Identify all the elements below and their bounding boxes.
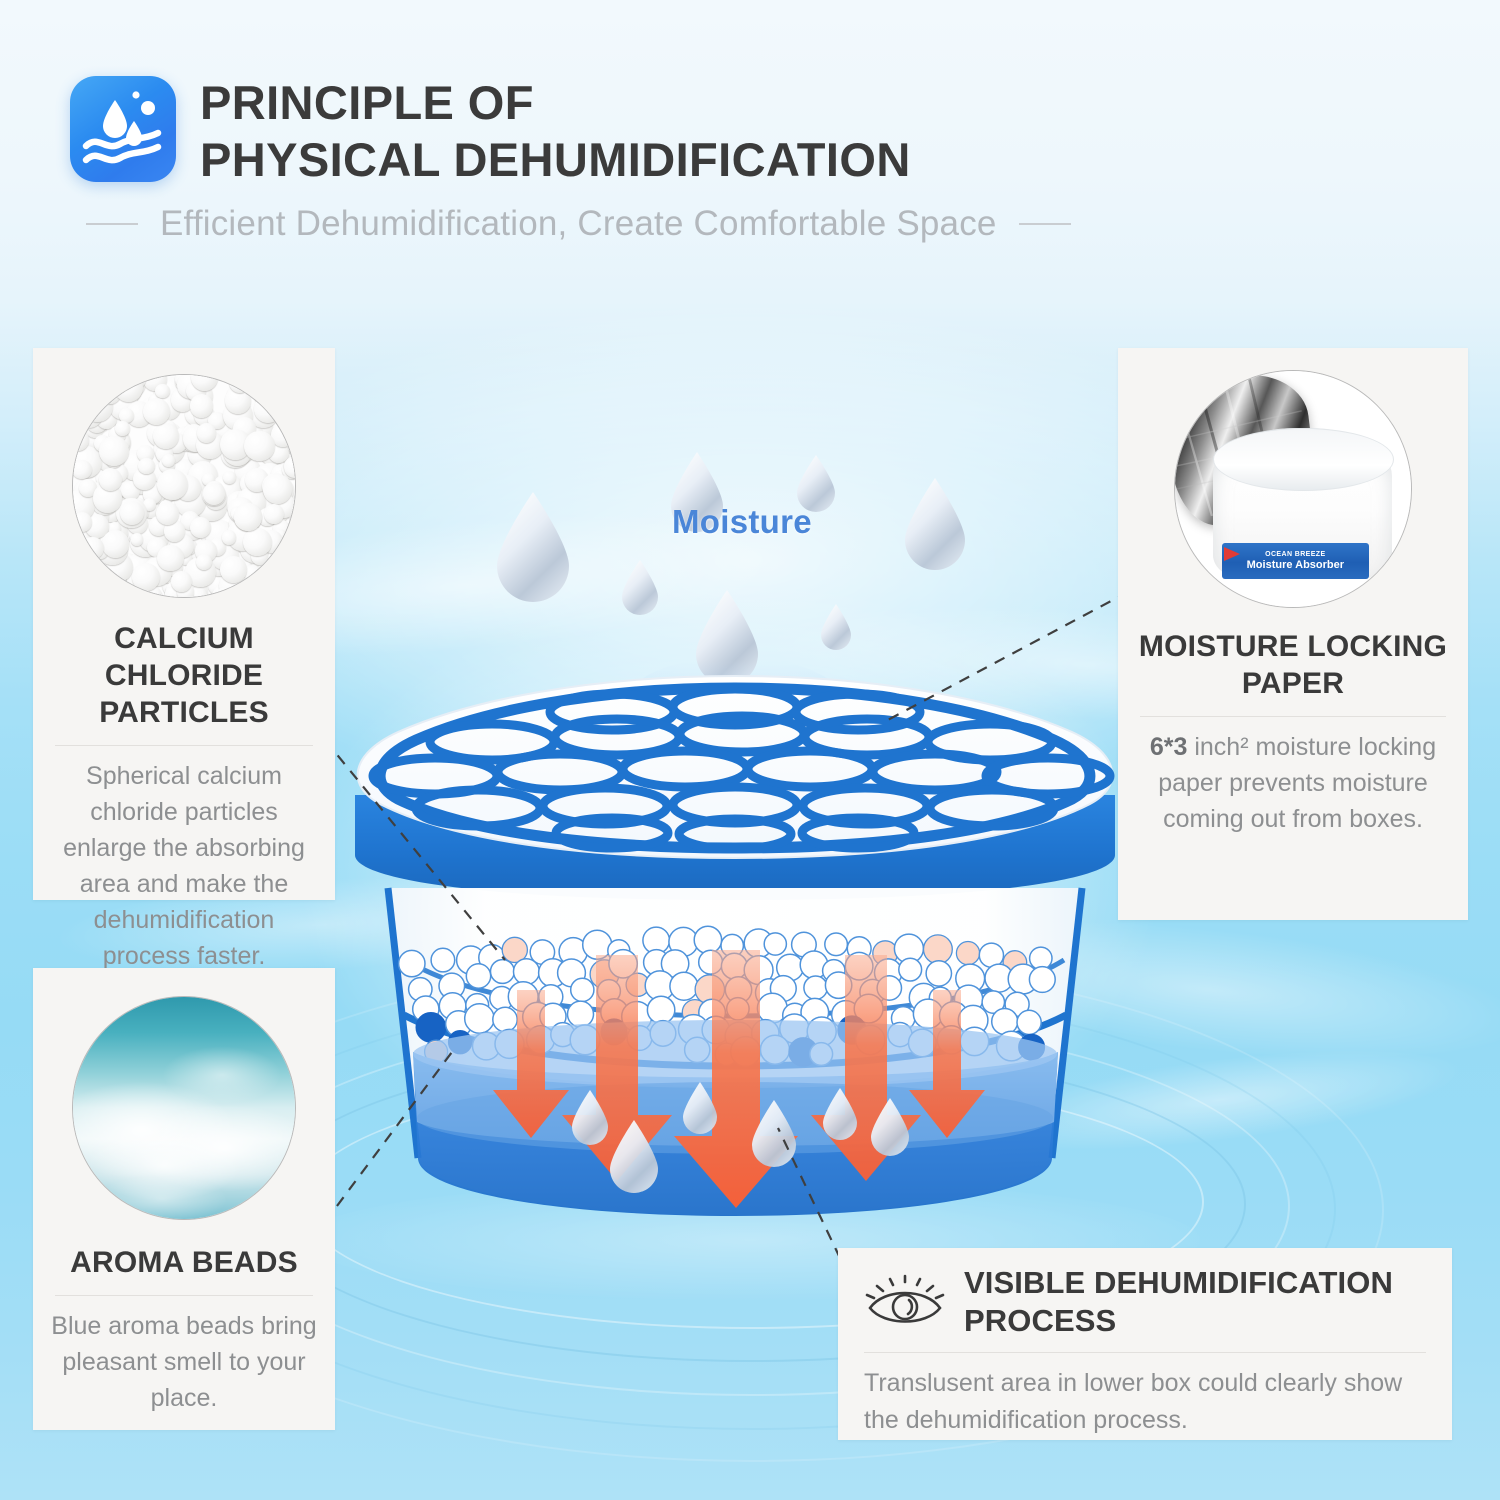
card-body: Translusent area in lower box could clea… [838,1353,1452,1439]
pellet [99,436,129,466]
pellet [138,458,154,474]
card-title-line1: MOISTURE LOCKING [1126,628,1460,665]
card-aroma-beads[interactable]: AROMA BEADS Blue aroma beads bring pleas… [33,968,335,1430]
eye-icon [864,1274,946,1330]
calcium-chloride-pellets-photo [72,374,296,598]
pellet [99,468,122,491]
card-title: VISIBLE DEHUMIDIFICATION PROCESS [964,1264,1393,1340]
pellet [162,454,175,467]
card-header: VISIBLE DEHUMIDIFICATION PROCESS [838,1248,1452,1340]
card-body-rest: inch² moisture locking paper prevents mo… [1158,733,1436,833]
tub-rim [1213,428,1394,491]
product-label-small: OCEAN BREEZE [1222,550,1368,559]
card-body-strong: 6*3 [1150,733,1188,761]
pellet [171,571,192,592]
label-triangle-icon [1224,547,1240,561]
product-label-large: Moisture Absorber [1222,559,1368,571]
pellet [244,431,274,461]
card-visible-process[interactable]: VISIBLE DEHUMIDIFICATION PROCESS Translu… [838,1248,1452,1440]
card-title: CALCIUM CHLORIDE PARTICLES [33,620,335,731]
pellet [81,537,104,560]
pellet [155,384,169,398]
card-title-line2: PARTICLES [41,694,327,731]
pellet [157,469,188,500]
moisture-label: Moisture [672,503,812,541]
card-title: MOISTURE LOCKING PAPER [1118,628,1468,702]
pellet [190,394,214,418]
pellet [72,566,96,590]
card-body: 6*3 inch² moisture locking paper prevent… [1118,717,1468,853]
pellet [131,533,143,545]
card-title-line1: VISIBLE DEHUMIDIFICATION [964,1264,1393,1302]
card-photo [33,968,335,1220]
pellet [197,423,216,442]
card-calcium-chloride[interactable]: CALCIUM CHLORIDE PARTICLES Spherical cal… [33,348,335,900]
pellet [243,528,271,556]
card-moisture-locking-paper[interactable]: OCEAN BREEZE Moisture Absorber MOISTURE … [1118,348,1468,920]
pellet [263,474,293,504]
infographic-canvas: PRINCIPLE OF PHYSICAL DEHUMIDIFICATION E… [0,0,1500,1500]
subtitle-row: Efficient Dehumidification, Create Comfo… [70,204,1430,244]
card-body: Blue aroma beads bring pleasant smell to… [33,1296,335,1432]
pellet [264,504,284,524]
card-title-line2: PROCESS [964,1302,1393,1340]
subtitle-dash-left [86,223,138,225]
card-photo: OCEAN BREEZE Moisture Absorber [1118,348,1468,608]
pellet [153,423,179,449]
pellet [102,530,129,557]
pellet [203,483,225,505]
page-title-line1: PRINCIPLE OF [200,74,911,131]
card-title-line2: PAPER [1126,665,1460,702]
product-label: OCEAN BREEZE Moisture Absorber [1222,543,1368,578]
pellet [72,460,91,479]
card-photo [33,348,335,598]
water-drop-waves-icon [70,76,176,182]
card-title-line1: CALCIUM CHLORIDE [41,620,327,694]
pellet [190,517,211,538]
pellet [72,512,92,532]
moisture-absorber-tub-photo: OCEAN BREEZE Moisture Absorber [1174,370,1412,608]
page-title-line2: PHYSICAL DEHUMIDIFICATION [200,131,911,188]
pellet [271,423,295,447]
ocean-wave-photo [72,996,296,1220]
pellet [290,374,296,381]
pellet [222,530,237,545]
card-body: Spherical calcium chloride particles enl… [33,746,335,990]
header: PRINCIPLE OF PHYSICAL DEHUMIDIFICATION E… [70,72,1430,244]
header-titles: PRINCIPLE OF PHYSICAL DEHUMIDIFICATION [200,72,911,188]
pellet [234,503,262,531]
page-subtitle: Efficient Dehumidification, Create Comfo… [160,204,997,244]
pellet [254,395,282,423]
subtitle-dash-right [1019,223,1071,225]
pellet [157,545,184,572]
card-title: AROMA BEADS [33,1244,335,1281]
pellet [115,421,130,436]
pellet [120,501,144,525]
